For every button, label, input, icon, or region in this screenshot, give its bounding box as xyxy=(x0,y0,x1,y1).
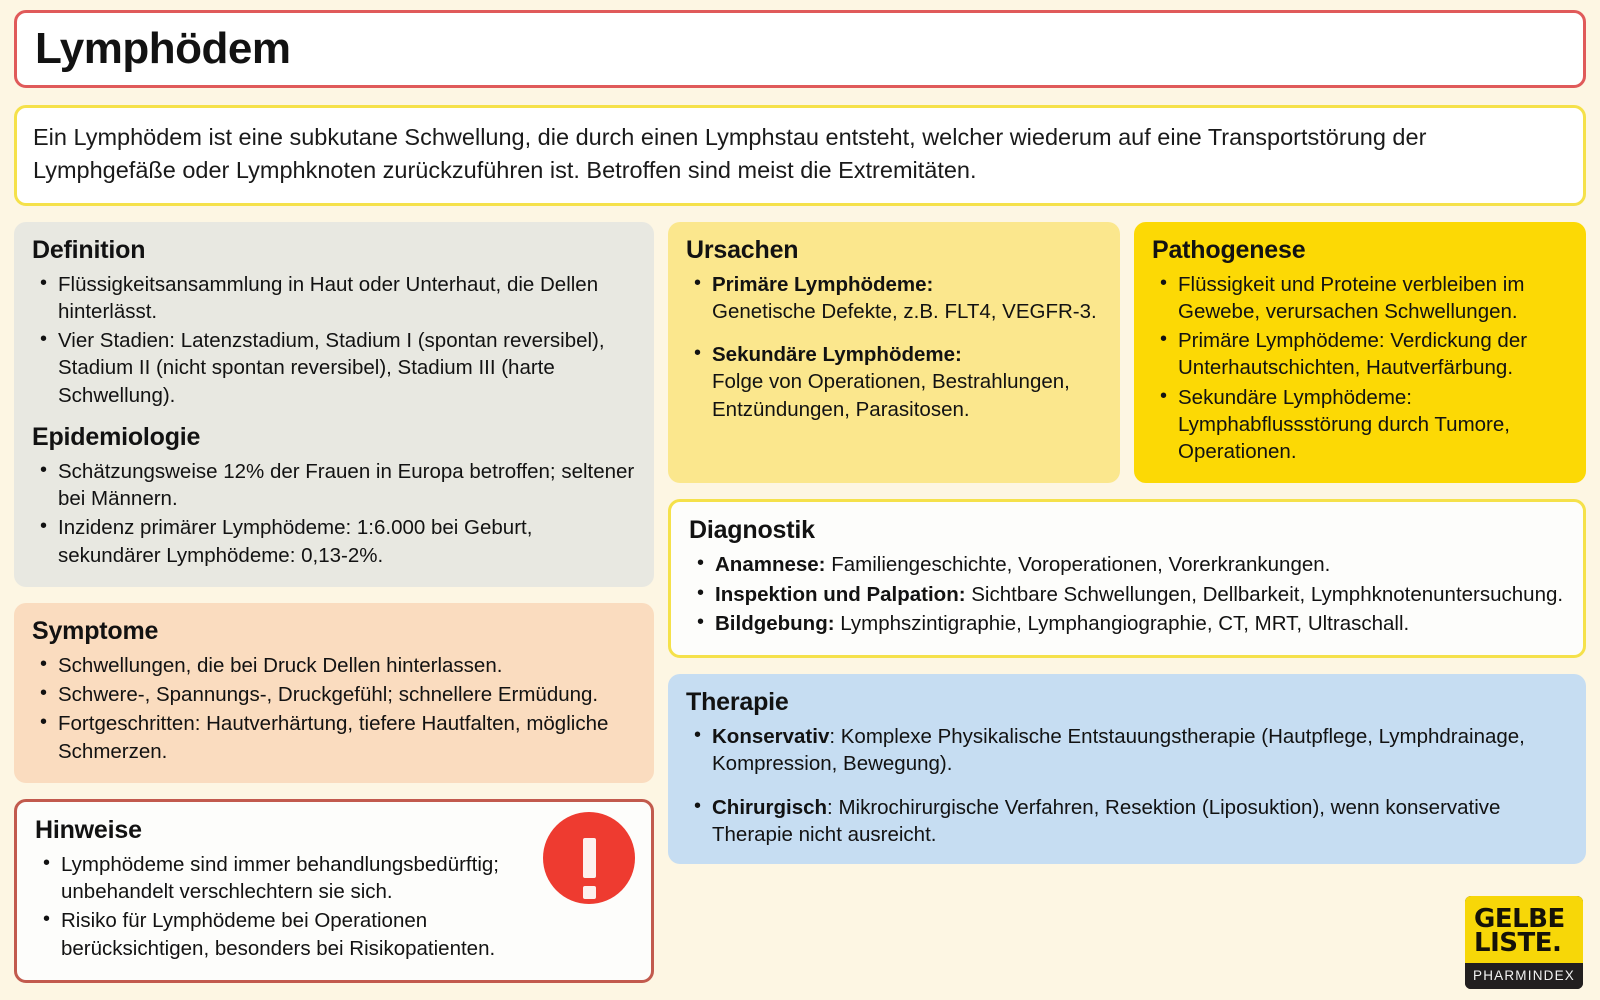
intro-banner: Ein Lymphödem ist eine subkutane Schwell… xyxy=(14,105,1586,206)
diagnostik-list: Anamnese: Familiengeschichte, Voroperati… xyxy=(689,551,1565,637)
pathogenese-list: Flüssigkeit und Proteine verbleiben im G… xyxy=(1152,271,1568,466)
list-item: Konservativ: Komplexe Physikalische Ents… xyxy=(686,723,1568,778)
card-definition: Definition Flüssigkeitsansammlung in Hau… xyxy=(14,222,654,587)
list-item: Vier Stadien: Latenzstadium, Stadium I (… xyxy=(32,327,636,409)
list-item-label: Konservativ xyxy=(712,725,829,748)
symptome-heading: Symptome xyxy=(32,617,636,646)
list-item-text: Lymphszintigraphie, Lymphangiographie, C… xyxy=(835,612,1410,635)
list-item: Fortgeschritten: Hautverhärtung, tiefere… xyxy=(32,710,636,765)
list-item: Lymphödeme sind immer behandlungsbedürft… xyxy=(35,851,575,906)
list-item-label: Primäre Lymphödeme: xyxy=(712,273,933,296)
list-item: Chirurgisch: Mikrochirurgische Verfahren… xyxy=(686,794,1568,849)
list-item-label: Inspektion und Palpation: xyxy=(715,583,966,606)
right-column: Ursachen Primäre Lymphödeme: Genetische … xyxy=(668,222,1586,881)
epidemiologie-heading: Epidemiologie xyxy=(32,423,636,452)
list-item: Schätzungsweise 12% der Frauen in Europa… xyxy=(32,458,636,513)
list-item: Primäre Lymphödeme: Genetische Defekte, … xyxy=(686,271,1102,326)
list-item-text: Genetische Defekte, z.B. FLT4, VEGFR-3. xyxy=(712,300,1097,323)
list-item: Anamnese: Familiengeschichte, Voroperati… xyxy=(689,551,1565,578)
list-item: Inzidenz primärer Lymphödeme: 1:6.000 be… xyxy=(32,514,636,569)
card-pathogenese: Pathogenese Flüssigkeit und Proteine ver… xyxy=(1134,222,1586,484)
content-columns: Definition Flüssigkeitsansammlung in Hau… xyxy=(14,222,1586,999)
list-item: Flüssigkeit und Proteine verbleiben im G… xyxy=(1152,271,1568,326)
diagnostik-heading: Diagnostik xyxy=(689,516,1565,545)
list-item: Primäre Lymphödeme: Verdickung der Unter… xyxy=(1152,327,1568,382)
card-symptome: Symptome Schwellungen, die bei Druck Del… xyxy=(14,603,654,783)
exclamation-mark-shape xyxy=(583,838,596,878)
card-therapie: Therapie Konservativ: Komplexe Physikali… xyxy=(668,674,1586,864)
gelbe-liste-logo[interactable]: GELBE LISTE. PHARMINDEX xyxy=(1462,893,1586,992)
list-item-label: Anamnese: xyxy=(715,553,826,576)
list-item: Flüssigkeitsansammlung in Haut oder Unte… xyxy=(32,271,636,326)
epidemiologie-list: Schätzungsweise 12% der Frauen in Europa… xyxy=(32,458,636,569)
title-banner: Lymphödem xyxy=(14,10,1586,88)
ursachen-list: Primäre Lymphödeme: Genetische Defekte, … xyxy=(686,271,1102,423)
list-item-text: : Komplexe Physikalische Entstauungsther… xyxy=(712,725,1525,775)
list-item: Risiko für Lymphödeme bei Operationen be… xyxy=(35,907,575,962)
list-item-text: Familiengeschichte, Voroperationen, Vore… xyxy=(826,553,1331,576)
list-item: Schwere-, Spannungs-, Druckgefühl; schne… xyxy=(32,681,636,708)
list-item-label: Chirurgisch xyxy=(712,796,827,819)
pathogenese-heading: Pathogenese xyxy=(1152,236,1568,265)
list-item-label: Bildgebung: xyxy=(715,612,835,635)
list-item: Bildgebung: Lymphszintigraphie, Lymphang… xyxy=(689,610,1565,637)
logo-line-2: LISTE. xyxy=(1474,931,1574,955)
list-item: Sekundäre Lymphödeme: Lymphabflussstörun… xyxy=(1152,384,1568,466)
symptome-list: Schwellungen, die bei Druck Dellen hinte… xyxy=(32,652,636,765)
left-column: Definition Flüssigkeitsansammlung in Hau… xyxy=(14,222,654,999)
logo-wordmark: GELBE LISTE. xyxy=(1465,896,1583,963)
ursachen-heading: Ursachen xyxy=(686,236,1102,265)
list-item: Schwellungen, die bei Druck Dellen hinte… xyxy=(32,652,636,679)
therapie-heading: Therapie xyxy=(686,688,1568,717)
card-diagnostik: Diagnostik Anamnese: Familiengeschichte,… xyxy=(668,499,1586,658)
card-ursachen: Ursachen Primäre Lymphödeme: Genetische … xyxy=(668,222,1120,484)
list-item-text: Folge von Operationen, Bestrahlungen, En… xyxy=(712,370,1070,420)
hinweise-list: Lymphödeme sind immer behandlungsbedürft… xyxy=(35,851,575,962)
definition-heading: Definition xyxy=(32,236,636,265)
page-title: Lymphödem xyxy=(35,27,290,71)
hinweise-heading: Hinweise xyxy=(35,816,633,845)
logo-subtitle: PHARMINDEX xyxy=(1465,963,1583,989)
list-item: Sekundäre Lymphödeme: Folge von Operatio… xyxy=(686,341,1102,423)
infographic-page: Lymphödem Ein Lymphödem ist eine subkuta… xyxy=(0,0,1600,1000)
card-hinweise: Hinweise Lymphödeme sind immer behandlun… xyxy=(14,799,654,983)
definition-list: Flüssigkeitsansammlung in Haut oder Unte… xyxy=(32,271,636,409)
causes-pathogenesis-row: Ursachen Primäre Lymphödeme: Genetische … xyxy=(668,222,1586,500)
list-item-label: Sekundäre Lymphödeme: xyxy=(712,343,962,366)
list-item: Inspektion und Palpation: Sichtbare Schw… xyxy=(689,581,1565,608)
list-item-text: : Mikrochirurgische Verfahren, Resektion… xyxy=(712,796,1500,846)
therapie-list: Konservativ: Komplexe Physikalische Ents… xyxy=(686,723,1568,848)
list-item-text: Sichtbare Schwellungen, Dellbarkeit, Lym… xyxy=(966,583,1564,606)
intro-text: Ein Lymphödem ist eine subkutane Schwell… xyxy=(33,121,1567,188)
